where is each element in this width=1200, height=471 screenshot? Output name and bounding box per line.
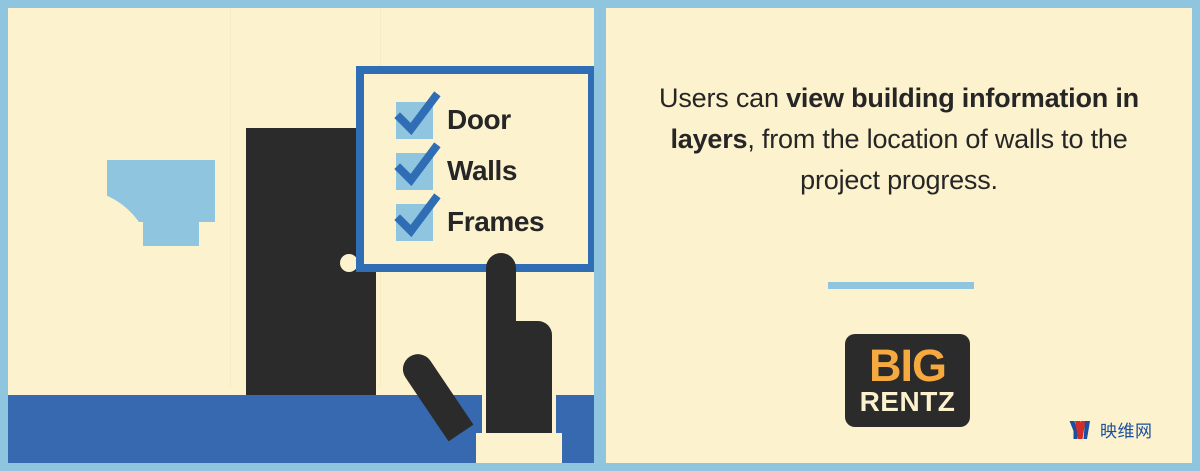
watermark: 映维网 bbox=[1069, 417, 1153, 442]
checkbox-checked-icon[interactable] bbox=[396, 102, 433, 139]
caption-lead: Users can bbox=[659, 83, 786, 113]
hill-shape bbox=[143, 202, 199, 246]
illustration-panel: Door Walls Frame bbox=[8, 8, 594, 463]
checklist-item-frames[interactable]: Frames bbox=[396, 202, 544, 242]
checklist-item-walls[interactable]: Walls bbox=[396, 151, 544, 191]
caption-divider-rule bbox=[828, 282, 974, 289]
bigrentz-logo: BIG RENTZ bbox=[845, 334, 970, 427]
logo-text-rentz: RENTZ bbox=[860, 388, 956, 416]
wall-seam bbox=[230, 8, 231, 388]
hand-sleeve-cuff bbox=[476, 433, 562, 463]
watermark-text: 映维网 bbox=[1100, 417, 1153, 442]
logo-text-big: BIG bbox=[869, 344, 946, 388]
checklist-item-door[interactable]: Door bbox=[396, 100, 544, 140]
panel-divider bbox=[594, 0, 606, 471]
checkbox-checked-icon[interactable] bbox=[396, 153, 433, 190]
checklist-item-label: Walls bbox=[447, 155, 517, 187]
checkbox-checked-icon[interactable] bbox=[396, 204, 433, 241]
checklist-item-label: Frames bbox=[447, 206, 544, 238]
yv-logo-icon bbox=[1069, 420, 1093, 440]
caption-panel: Users can view building information in l… bbox=[606, 8, 1192, 463]
caption-tail: , from the location of walls to the proj… bbox=[747, 124, 1127, 195]
checklist-items: Door Walls Frame bbox=[396, 100, 544, 242]
checklist-item-label: Door bbox=[447, 104, 511, 136]
pointing-hand-icon bbox=[438, 253, 556, 453]
wall-picture bbox=[107, 160, 215, 264]
hand-palm bbox=[486, 321, 552, 451]
caption-text: Users can view building information in l… bbox=[654, 78, 1144, 201]
checklist-card: Door Walls Frame bbox=[356, 66, 594, 272]
infographic-slide: Door Walls Frame bbox=[0, 0, 1200, 471]
